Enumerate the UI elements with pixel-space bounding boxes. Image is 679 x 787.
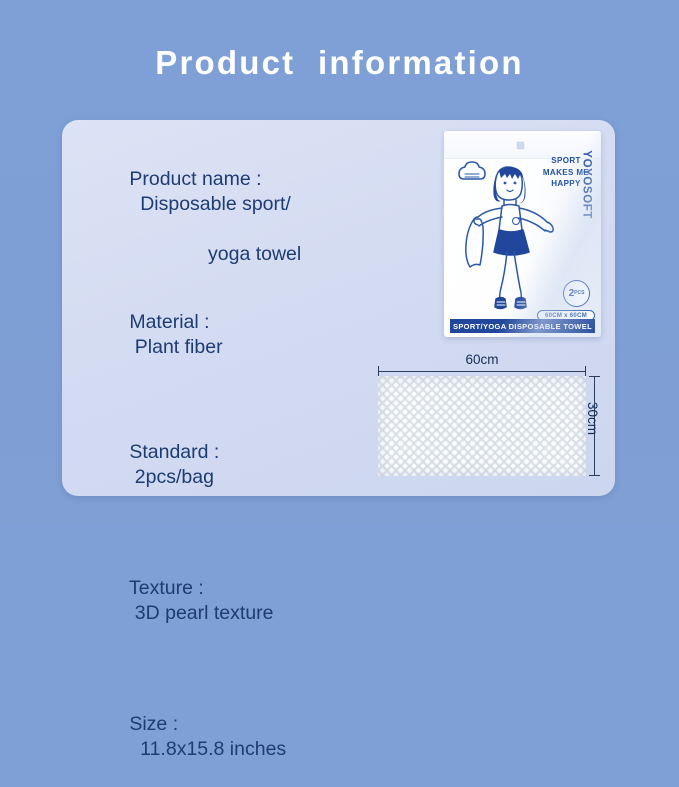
spacer	[86, 385, 404, 415]
product-package-image: SPORT MAKES ME HAPPY YOYOSOFT 2PCS 60CM …	[444, 131, 601, 337]
spec-value-product-name-line2: yoga towel	[86, 242, 404, 267]
spec-label-product-name: Product name :	[129, 168, 261, 190]
spec-label-standard: Standard :	[129, 441, 219, 463]
spec-row-texture: Texture : 3D pearl texture	[86, 551, 404, 651]
spec-row-size: Size : 11.8x15.8 inches	[86, 687, 404, 787]
product-info-card: Product name : Disposable sport/ yoga to…	[62, 120, 615, 496]
package-hang-hole-icon	[515, 140, 526, 151]
width-dimension: 60cm	[378, 352, 586, 374]
spec-row-product-name: Product name : Disposable sport/	[86, 142, 404, 242]
towel-texture-swatch	[378, 376, 586, 476]
spec-value-product-name: Disposable sport/	[140, 193, 291, 215]
package-pcs-unit: PCS	[574, 291, 584, 296]
package-brand-name: YOYOSOFT	[581, 150, 593, 219]
spec-row-material: Material : Plant fiber	[86, 285, 404, 385]
spec-value-size: 11.8x15.8 inches	[135, 738, 286, 760]
spacer	[86, 267, 404, 285]
spec-value-material: Plant fiber	[135, 336, 223, 358]
width-dimension-line-icon	[378, 371, 586, 372]
width-dimension-label: 60cm	[378, 352, 586, 367]
spec-value-texture: 3D pearl texture	[135, 602, 274, 624]
spec-label-material: Material :	[129, 311, 209, 333]
towel-swatch-figure: 60cm 30cm	[374, 352, 609, 482]
spec-value-standard: 2pcs/bag	[135, 466, 214, 488]
page-title: Product information	[0, 44, 679, 82]
spec-label-size: Size :	[129, 713, 178, 735]
height-dimension: 30cm	[592, 376, 614, 476]
package-bottom-banner: SPORT/YOGA DISPOSABLE TOWEL	[450, 319, 595, 333]
spacer	[86, 515, 404, 551]
spec-label-texture: Texture :	[129, 577, 204, 599]
package-pcs-badge: 2PCS	[563, 280, 590, 307]
spacer	[86, 651, 404, 687]
height-dimension-label: 30cm	[585, 402, 600, 435]
spec-row-standard: Standard : 2pcs/bag	[86, 415, 404, 515]
product-information-panel: Product information Product name : Dispo…	[0, 0, 679, 524]
specification-list: Product name : Disposable sport/ yoga to…	[86, 142, 404, 787]
